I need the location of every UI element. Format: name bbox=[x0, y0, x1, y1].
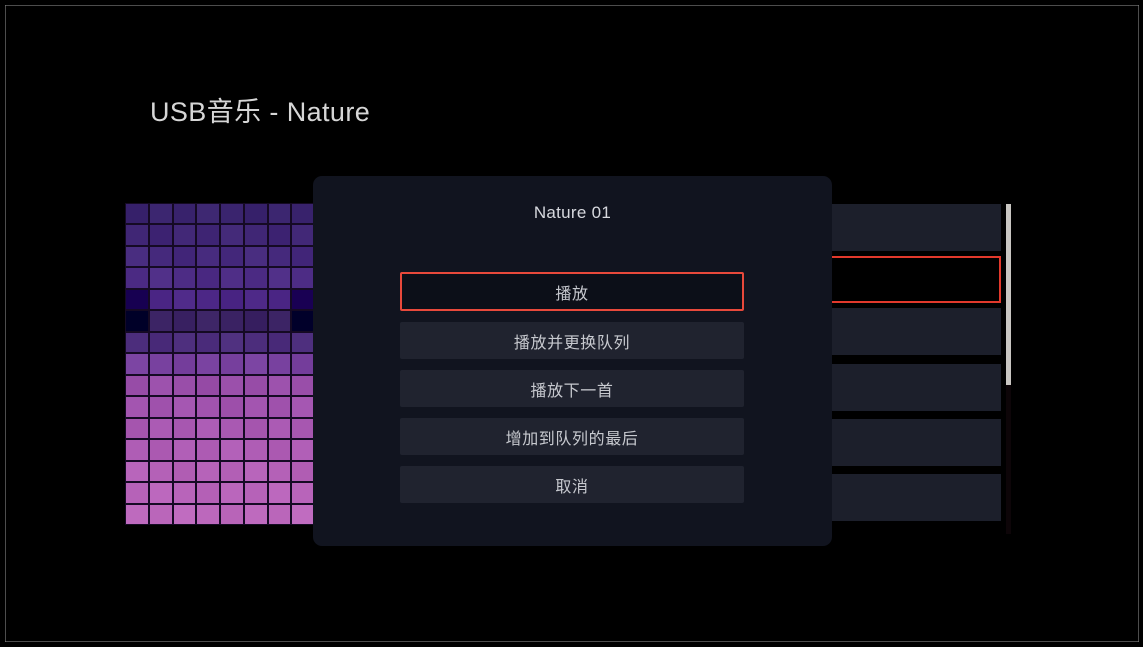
album-tile bbox=[269, 268, 291, 287]
album-tile bbox=[197, 483, 219, 502]
album-tile bbox=[150, 333, 172, 352]
album-tile bbox=[150, 354, 172, 373]
album-tile bbox=[174, 268, 196, 287]
album-tile bbox=[150, 290, 172, 309]
album-tile bbox=[269, 354, 291, 373]
album-tile bbox=[197, 462, 219, 481]
menu-item-label: 取消 bbox=[555, 473, 588, 497]
album-tile bbox=[197, 419, 219, 438]
album-tile bbox=[245, 462, 267, 481]
album-tile bbox=[292, 247, 314, 266]
album-tile bbox=[174, 290, 196, 309]
album-tile bbox=[197, 247, 219, 266]
album-tile bbox=[174, 440, 196, 459]
album-tile bbox=[221, 483, 243, 502]
album-tile bbox=[126, 440, 148, 459]
album-tile bbox=[174, 354, 196, 373]
menu-item-play[interactable]: 播放 bbox=[400, 272, 744, 311]
album-tile bbox=[269, 483, 291, 502]
album-tile bbox=[126, 419, 148, 438]
album-tile bbox=[292, 483, 314, 502]
album-tile bbox=[126, 505, 148, 524]
album-tile bbox=[150, 462, 172, 481]
album-tile bbox=[292, 290, 314, 309]
album-tile bbox=[221, 311, 243, 330]
dialog-title: Nature 01 bbox=[313, 203, 832, 223]
album-tile bbox=[174, 505, 196, 524]
album-tile bbox=[292, 505, 314, 524]
album-tile bbox=[197, 354, 219, 373]
album-tile bbox=[221, 376, 243, 395]
album-tile bbox=[245, 505, 267, 524]
album-tile bbox=[150, 440, 172, 459]
album-tile bbox=[197, 505, 219, 524]
album-tile bbox=[150, 268, 172, 287]
album-tile bbox=[197, 397, 219, 416]
album-tile bbox=[150, 225, 172, 244]
album-tile bbox=[245, 247, 267, 266]
album-tile bbox=[126, 376, 148, 395]
album-tile bbox=[292, 311, 314, 330]
album-tile bbox=[150, 397, 172, 416]
album-tile bbox=[269, 290, 291, 309]
album-tile bbox=[245, 311, 267, 330]
album-tile bbox=[221, 505, 243, 524]
album-tile bbox=[221, 419, 243, 438]
menu-item-add-to-queue-end[interactable]: 增加到队列的最后 bbox=[400, 418, 744, 455]
album-tile bbox=[174, 333, 196, 352]
album-tile bbox=[269, 462, 291, 481]
album-tile bbox=[245, 333, 267, 352]
menu-item-label: 播放并更换队列 bbox=[514, 329, 630, 353]
album-tile bbox=[245, 268, 267, 287]
screen-surface: USB音乐 - Nature Nature 01 播放播放并更换队列播放下一首增… bbox=[6, 6, 1138, 641]
album-tile bbox=[174, 311, 196, 330]
album-tile bbox=[269, 225, 291, 244]
album-tile bbox=[150, 204, 172, 223]
album-tile bbox=[221, 268, 243, 287]
album-tile bbox=[221, 397, 243, 416]
menu-item-label: 增加到队列的最后 bbox=[506, 425, 639, 449]
album-tile bbox=[221, 204, 243, 223]
album-tile bbox=[221, 247, 243, 266]
album-tile bbox=[292, 354, 314, 373]
album-tile bbox=[174, 225, 196, 244]
album-tile bbox=[126, 268, 148, 287]
album-tile bbox=[150, 311, 172, 330]
album-tile bbox=[269, 440, 291, 459]
album-tile bbox=[126, 247, 148, 266]
album-art-thumbnail bbox=[125, 203, 315, 525]
album-tile bbox=[150, 483, 172, 502]
album-tile bbox=[245, 354, 267, 373]
album-tile bbox=[197, 225, 219, 244]
album-tile bbox=[197, 311, 219, 330]
album-tile bbox=[221, 333, 243, 352]
album-tile bbox=[221, 290, 243, 309]
album-tile bbox=[126, 397, 148, 416]
album-tile bbox=[150, 505, 172, 524]
album-tile bbox=[292, 419, 314, 438]
frame-border-right bbox=[1138, 5, 1139, 642]
album-tile bbox=[221, 225, 243, 244]
page-title: USB音乐 - Nature bbox=[150, 90, 370, 129]
album-tile bbox=[221, 354, 243, 373]
album-tile bbox=[174, 204, 196, 223]
album-tile bbox=[126, 354, 148, 373]
album-tile bbox=[269, 247, 291, 266]
album-tile bbox=[292, 397, 314, 416]
dialog-menu-list: 播放播放并更换队列播放下一首增加到队列的最后取消 bbox=[400, 272, 744, 514]
menu-item-play-and-replace-queue[interactable]: 播放并更换队列 bbox=[400, 322, 744, 359]
album-tile bbox=[174, 483, 196, 502]
album-tile bbox=[292, 333, 314, 352]
album-tile bbox=[197, 376, 219, 395]
album-tile bbox=[174, 397, 196, 416]
menu-item-label: 播放 bbox=[555, 280, 588, 304]
album-tile bbox=[269, 333, 291, 352]
album-tile bbox=[292, 376, 314, 395]
album-tile bbox=[245, 376, 267, 395]
album-tile bbox=[126, 462, 148, 481]
album-tile bbox=[245, 204, 267, 223]
album-tile bbox=[126, 225, 148, 244]
album-tile bbox=[245, 419, 267, 438]
album-tile bbox=[174, 376, 196, 395]
album-tile bbox=[292, 225, 314, 244]
album-tile bbox=[126, 333, 148, 352]
menu-item-play-next[interactable]: 播放下一首 bbox=[400, 370, 744, 407]
album-tile bbox=[245, 225, 267, 244]
album-tile bbox=[150, 376, 172, 395]
album-tile bbox=[292, 440, 314, 459]
album-tile bbox=[197, 333, 219, 352]
album-tile bbox=[269, 419, 291, 438]
album-tile bbox=[197, 268, 219, 287]
album-tile bbox=[269, 505, 291, 524]
album-tile bbox=[197, 440, 219, 459]
album-tile bbox=[126, 290, 148, 309]
list-scrollbar[interactable] bbox=[1006, 204, 1011, 534]
album-tile bbox=[292, 268, 314, 287]
album-tile bbox=[174, 247, 196, 266]
album-tile bbox=[245, 290, 267, 309]
album-tile bbox=[221, 462, 243, 481]
album-tile bbox=[150, 247, 172, 266]
album-tile bbox=[245, 397, 267, 416]
album-tile bbox=[221, 440, 243, 459]
context-menu-dialog: Nature 01 播放播放并更换队列播放下一首增加到队列的最后取消 bbox=[313, 176, 832, 546]
menu-item-cancel[interactable]: 取消 bbox=[400, 466, 744, 503]
tv-app-root: USB音乐 - Nature Nature 01 播放播放并更换队列播放下一首增… bbox=[0, 0, 1143, 647]
scrollbar-thumb[interactable] bbox=[1006, 204, 1011, 385]
album-tile bbox=[126, 311, 148, 330]
menu-item-label: 播放下一首 bbox=[530, 377, 613, 401]
album-tile bbox=[126, 483, 148, 502]
album-tile bbox=[174, 462, 196, 481]
album-tile bbox=[197, 290, 219, 309]
album-tile bbox=[245, 440, 267, 459]
album-tile bbox=[269, 204, 291, 223]
album-tile bbox=[269, 397, 291, 416]
album-tile bbox=[269, 311, 291, 330]
album-tile bbox=[269, 376, 291, 395]
album-tile bbox=[292, 462, 314, 481]
album-tile bbox=[245, 483, 267, 502]
album-tile bbox=[292, 204, 314, 223]
album-tile bbox=[174, 419, 196, 438]
album-tile bbox=[150, 419, 172, 438]
album-tile bbox=[126, 204, 148, 223]
frame-border-bottom bbox=[5, 641, 1139, 642]
album-art-grid bbox=[125, 203, 315, 525]
album-tile bbox=[197, 204, 219, 223]
